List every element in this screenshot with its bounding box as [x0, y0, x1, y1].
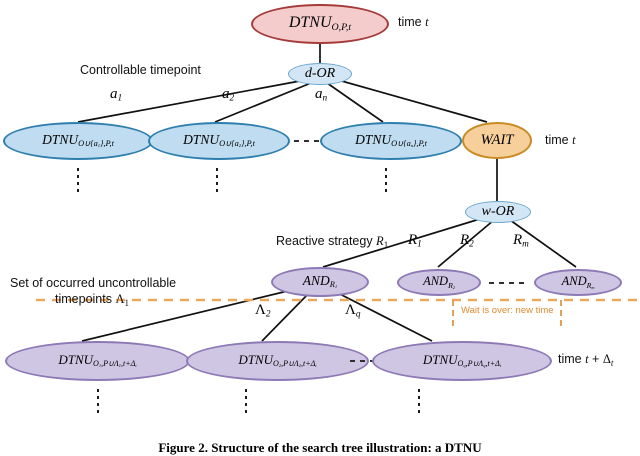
node-and-r2[interactable]: ANDR2 [397, 269, 481, 296]
node-dtnu-a1[interactable]: DTNUO∪{a1},P,t [3, 122, 153, 160]
vdots-an [385, 168, 387, 192]
annotation-reactive-strategy: Reactive strategy R1 [276, 234, 388, 250]
node-and-r1-label: ANDR1 [303, 274, 337, 290]
vdots-a2 [216, 168, 218, 192]
edge-label-r2: R2 [460, 232, 474, 250]
vdots-leaf-1 [97, 389, 99, 413]
annotation-occurred-line2: timepoints Λ1 [55, 292, 129, 308]
node-and-rm-label: ANDRm [562, 275, 595, 289]
wait-over-label: Wait is over: new time [461, 305, 554, 316]
ellipsis-children-dots [294, 140, 322, 142]
node-root-dtnu[interactable]: DTNUO,P,t [251, 4, 389, 44]
label-root-time: time t [398, 15, 429, 30]
label-wait-time: time t [545, 133, 576, 148]
edge-label-a1: a1 [110, 86, 122, 104]
node-dtnu-a2-label: DTNUO∪{a2},P,t [183, 133, 255, 149]
node-dtnu-an[interactable]: DTNUO∪{an},P,t [320, 122, 462, 160]
node-and-r1[interactable]: ANDR1 [271, 267, 369, 297]
node-root-label: DTNUO,P,t [289, 15, 351, 33]
annotation-controllable-timepoint: Controllable timepoint [80, 63, 201, 77]
node-d-or[interactable]: d-OR [288, 63, 352, 85]
node-w-or-label: w-OR [482, 205, 515, 219]
figure-canvas: DTNUO,P,t time t d-OR Controllable timep… [0, 0, 640, 456]
node-leaf-q-label: DTNUOq,P∪Λq,t+Δt [423, 353, 501, 369]
vdots-a1 [77, 168, 79, 192]
edge-label-lambdaq: Λq [345, 302, 361, 320]
node-dtnu-a1-label: DTNUO∪{a1},P,t [42, 133, 114, 149]
annotation-occurred-line1: Set of occurred uncontrollable [10, 276, 176, 290]
ellipsis-and-dots [489, 282, 525, 284]
node-w-or[interactable]: w-OR [465, 201, 531, 223]
node-d-or-label: d-OR [305, 67, 335, 81]
node-leaf-1-label: DTNUO1,P∪Λ1,t+Δt [58, 353, 136, 369]
vdots-leaf-q [418, 389, 420, 413]
edge-label-lambda2: Λ2 [255, 302, 271, 320]
vdots-leaf-2 [245, 389, 247, 413]
figure-caption: Figure 2. Structure of the search tree i… [0, 438, 640, 456]
node-leaf-2-label: DTNUO2,P∪Λ2,t+Δt [238, 353, 316, 369]
node-leaf-q[interactable]: DTNUOq,P∪Λq,t+Δt [372, 341, 552, 381]
node-and-r2-label: ANDR2 [423, 275, 455, 289]
node-and-rm[interactable]: ANDRm [534, 269, 622, 296]
node-leaf-1[interactable]: DTNUO1,P∪Λ1,t+Δt [5, 341, 190, 381]
edge-label-a2: a2 [222, 86, 234, 104]
node-wait[interactable]: WAIT [462, 122, 532, 159]
node-leaf-2[interactable]: DTNUO2,P∪Λ2,t+Δt [186, 341, 369, 381]
node-dtnu-a2[interactable]: DTNUO∪{a2},P,t [148, 122, 290, 160]
label-leaf-time: time t + Δt [558, 352, 613, 368]
edge-label-rm: Rm [513, 232, 529, 250]
edge-label-an: an [315, 86, 327, 104]
edge-label-r1: R1 [408, 232, 422, 250]
node-dtnu-an-label: DTNUO∪{an},P,t [355, 133, 427, 149]
node-wait-label: WAIT [481, 133, 514, 148]
